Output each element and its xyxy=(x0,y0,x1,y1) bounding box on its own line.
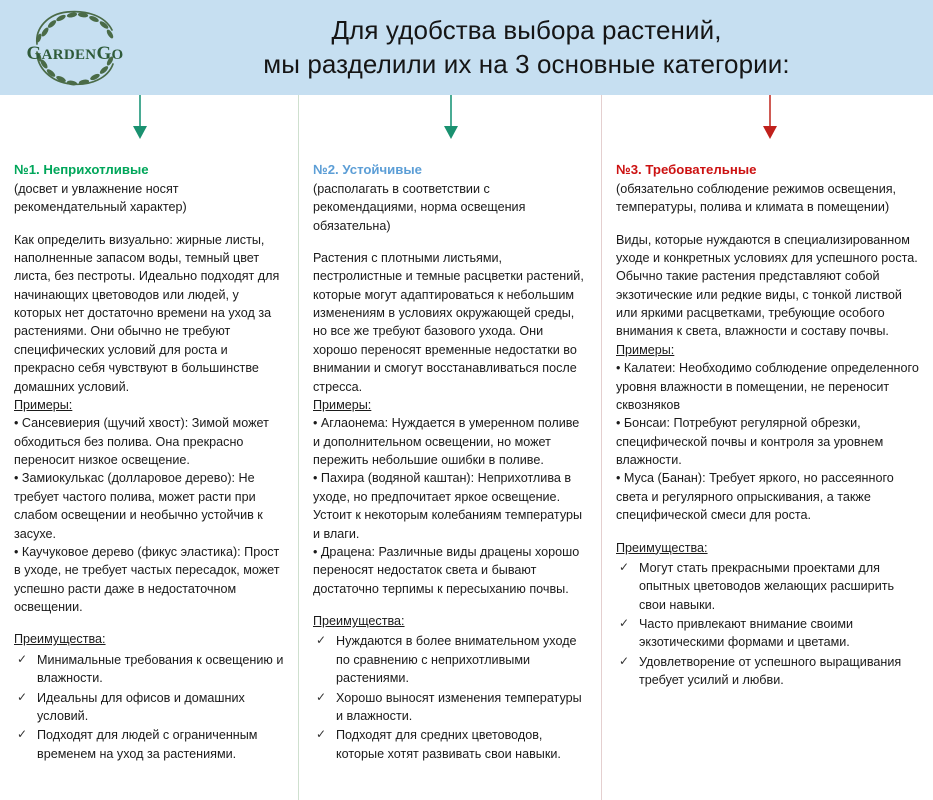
list-item-label: Удовлетворение от успешного выращивания … xyxy=(639,655,901,687)
category-2-intro-text: Растения с плотными листьями, пестролист… xyxy=(313,249,587,396)
category-2-advantages-list: ✓Нуждаются в более внимательном уходе по… xyxy=(313,632,587,763)
page-title: Для удобства выбора растений, мы раздели… xyxy=(150,14,933,81)
list-item: ✓Подходят для людей с ограниченным време… xyxy=(14,726,284,763)
check-icon: ✓ xyxy=(619,653,629,671)
list-item: • Драцена: Различные виды драцены хорошо… xyxy=(313,543,587,598)
category-3-advantages-list: ✓Могут стать прекрасными проектами для о… xyxy=(616,559,923,690)
brand-name-g2: G xyxy=(96,43,111,64)
category-3-subtitle-text: (обязательно соблюдение режимов освещени… xyxy=(616,180,923,217)
category-1-examples-label: Примеры: xyxy=(14,396,284,414)
category-1-intro: Как определить визуально: жирные листы, … xyxy=(14,231,284,396)
list-item: ✓Удовлетворение от успешного выращивания… xyxy=(616,653,923,690)
list-item: ✓Идеальны для офисов и домашних условий. xyxy=(14,689,284,726)
page-title-line-1: Для удобства выбора растений, xyxy=(150,14,903,47)
list-item-label: Подходят для средних цветоводов, которые… xyxy=(336,728,561,760)
check-icon: ✓ xyxy=(619,559,629,577)
category-2-title: №2. Устойчивые xyxy=(313,161,587,179)
list-item-label: Часто привлекают внимание своими экзотич… xyxy=(639,617,853,649)
list-item: • Замиокулькас (долларовое дерево): Не т… xyxy=(14,469,284,543)
brand-name-o: O xyxy=(112,47,124,63)
check-icon: ✓ xyxy=(316,632,326,650)
check-icon: ✓ xyxy=(17,726,27,744)
list-item: ✓Подходят для средних цветоводов, которы… xyxy=(313,726,587,763)
list-item: • Пахира (водяной каштан): Неприхотлива … xyxy=(313,469,587,543)
category-2-advantages-label: Преимущества: xyxy=(313,612,587,630)
check-icon: ✓ xyxy=(619,615,629,633)
list-item: • Аглаонема: Нуждается в умеренном полив… xyxy=(313,414,587,469)
category-2-subtitle: (располагать в соответствии с рекомендац… xyxy=(313,180,587,235)
category-3-title: №3. Требовательные xyxy=(616,161,923,179)
category-1-examples-list: • Сансевиерия (щучий хвост): Зимой может… xyxy=(14,414,284,616)
list-item-label: Минимальные требования к освещению и вла… xyxy=(37,653,283,685)
category-2-examples-label: Примеры: xyxy=(313,396,587,414)
category-1-title: №1. Неприхотливые xyxy=(14,161,284,179)
category-1-subtitle-text: (досвет и увлажнение носят рекомендатель… xyxy=(14,180,284,217)
list-item: ✓Часто привлекают внимание своими экзоти… xyxy=(616,615,923,652)
list-item-label: Подходят для людей с ограниченным времен… xyxy=(37,728,257,760)
brand-name: GARDENGO xyxy=(0,44,150,63)
category-3-examples-list: • Калатеи: Необходимо соблюдение определ… xyxy=(616,359,923,524)
check-icon: ✓ xyxy=(316,689,326,707)
infographic-page: GARDENGO Для удобства выбора растений, м… xyxy=(0,0,933,800)
list-item: • Муса (Банан): Требует яркого, но рассе… xyxy=(616,469,923,524)
category-column-3: №3. Требовательные (обязательно соблюден… xyxy=(601,95,933,800)
list-item-label: Могут стать прекрасными проектами для оп… xyxy=(639,561,894,612)
list-item: ✓Минимальные требования к освещению и вл… xyxy=(14,651,284,688)
list-item: ✓Нуждаются в более внимательном уходе по… xyxy=(313,632,587,687)
page-header: GARDENGO Для удобства выбора растений, м… xyxy=(0,0,933,95)
check-icon: ✓ xyxy=(17,689,27,707)
category-1-advantages-label: Преимущества: xyxy=(14,630,284,648)
category-3-advantages-label: Преимущества: xyxy=(616,539,923,557)
category-1-intro-text: Как определить визуально: жирные листы, … xyxy=(14,231,284,396)
brand-name-arden: ARDEN xyxy=(42,47,97,63)
category-2-subtitle-text: (располагать в соответствии с рекомендац… xyxy=(313,180,587,235)
brand-name-g1: G xyxy=(27,43,42,64)
list-item: ✓Могут стать прекрасными проектами для о… xyxy=(616,559,923,614)
category-1-subtitle: (досвет и увлажнение носят рекомендатель… xyxy=(14,180,284,217)
category-1-advantages-list: ✓Минимальные требования к освещению и вл… xyxy=(14,651,284,763)
list-item-label: Идеальны для офисов и домашних условий. xyxy=(37,691,245,723)
check-icon: ✓ xyxy=(17,651,27,669)
category-3-intro-text: Виды, которые нуждаются в специализирова… xyxy=(616,231,923,341)
list-item: • Каучуковое дерево (фикус эластика): Пр… xyxy=(14,543,284,617)
category-2-intro: Растения с плотными листьями, пестролист… xyxy=(313,249,587,396)
category-3-intro: Виды, которые нуждаются в специализирова… xyxy=(616,231,923,341)
list-item: ✓Хорошо выносят изменения температуры и … xyxy=(313,689,587,726)
brand-logo: GARDENGO xyxy=(0,0,150,95)
category-column-1: №1. Неприхотливые (досвет и увлажнение н… xyxy=(0,95,298,800)
list-item-label: Нуждаются в более внимательном уходе по … xyxy=(336,634,577,685)
list-item: • Бонсаи: Потребуют регулярной обрезки, … xyxy=(616,414,923,469)
page-title-line-2: мы разделили их на 3 основные категории: xyxy=(150,48,903,81)
check-icon: ✓ xyxy=(316,726,326,744)
list-item: • Калатеи: Необходимо соблюдение определ… xyxy=(616,359,923,414)
category-columns: №1. Неприхотливые (досвет и увлажнение н… xyxy=(0,95,933,800)
category-2-examples-list: • Аглаонема: Нуждается в умеренном полив… xyxy=(313,414,587,598)
category-3-examples-label: Примеры: xyxy=(616,341,923,359)
category-column-2: №2. Устойчивые (располагать в соответств… xyxy=(298,95,601,800)
category-3-subtitle: (обязательно соблюдение режимов освещени… xyxy=(616,180,923,217)
list-item: • Сансевиерия (щучий хвост): Зимой может… xyxy=(14,414,284,469)
list-item-label: Хорошо выносят изменения температуры и в… xyxy=(336,691,582,723)
